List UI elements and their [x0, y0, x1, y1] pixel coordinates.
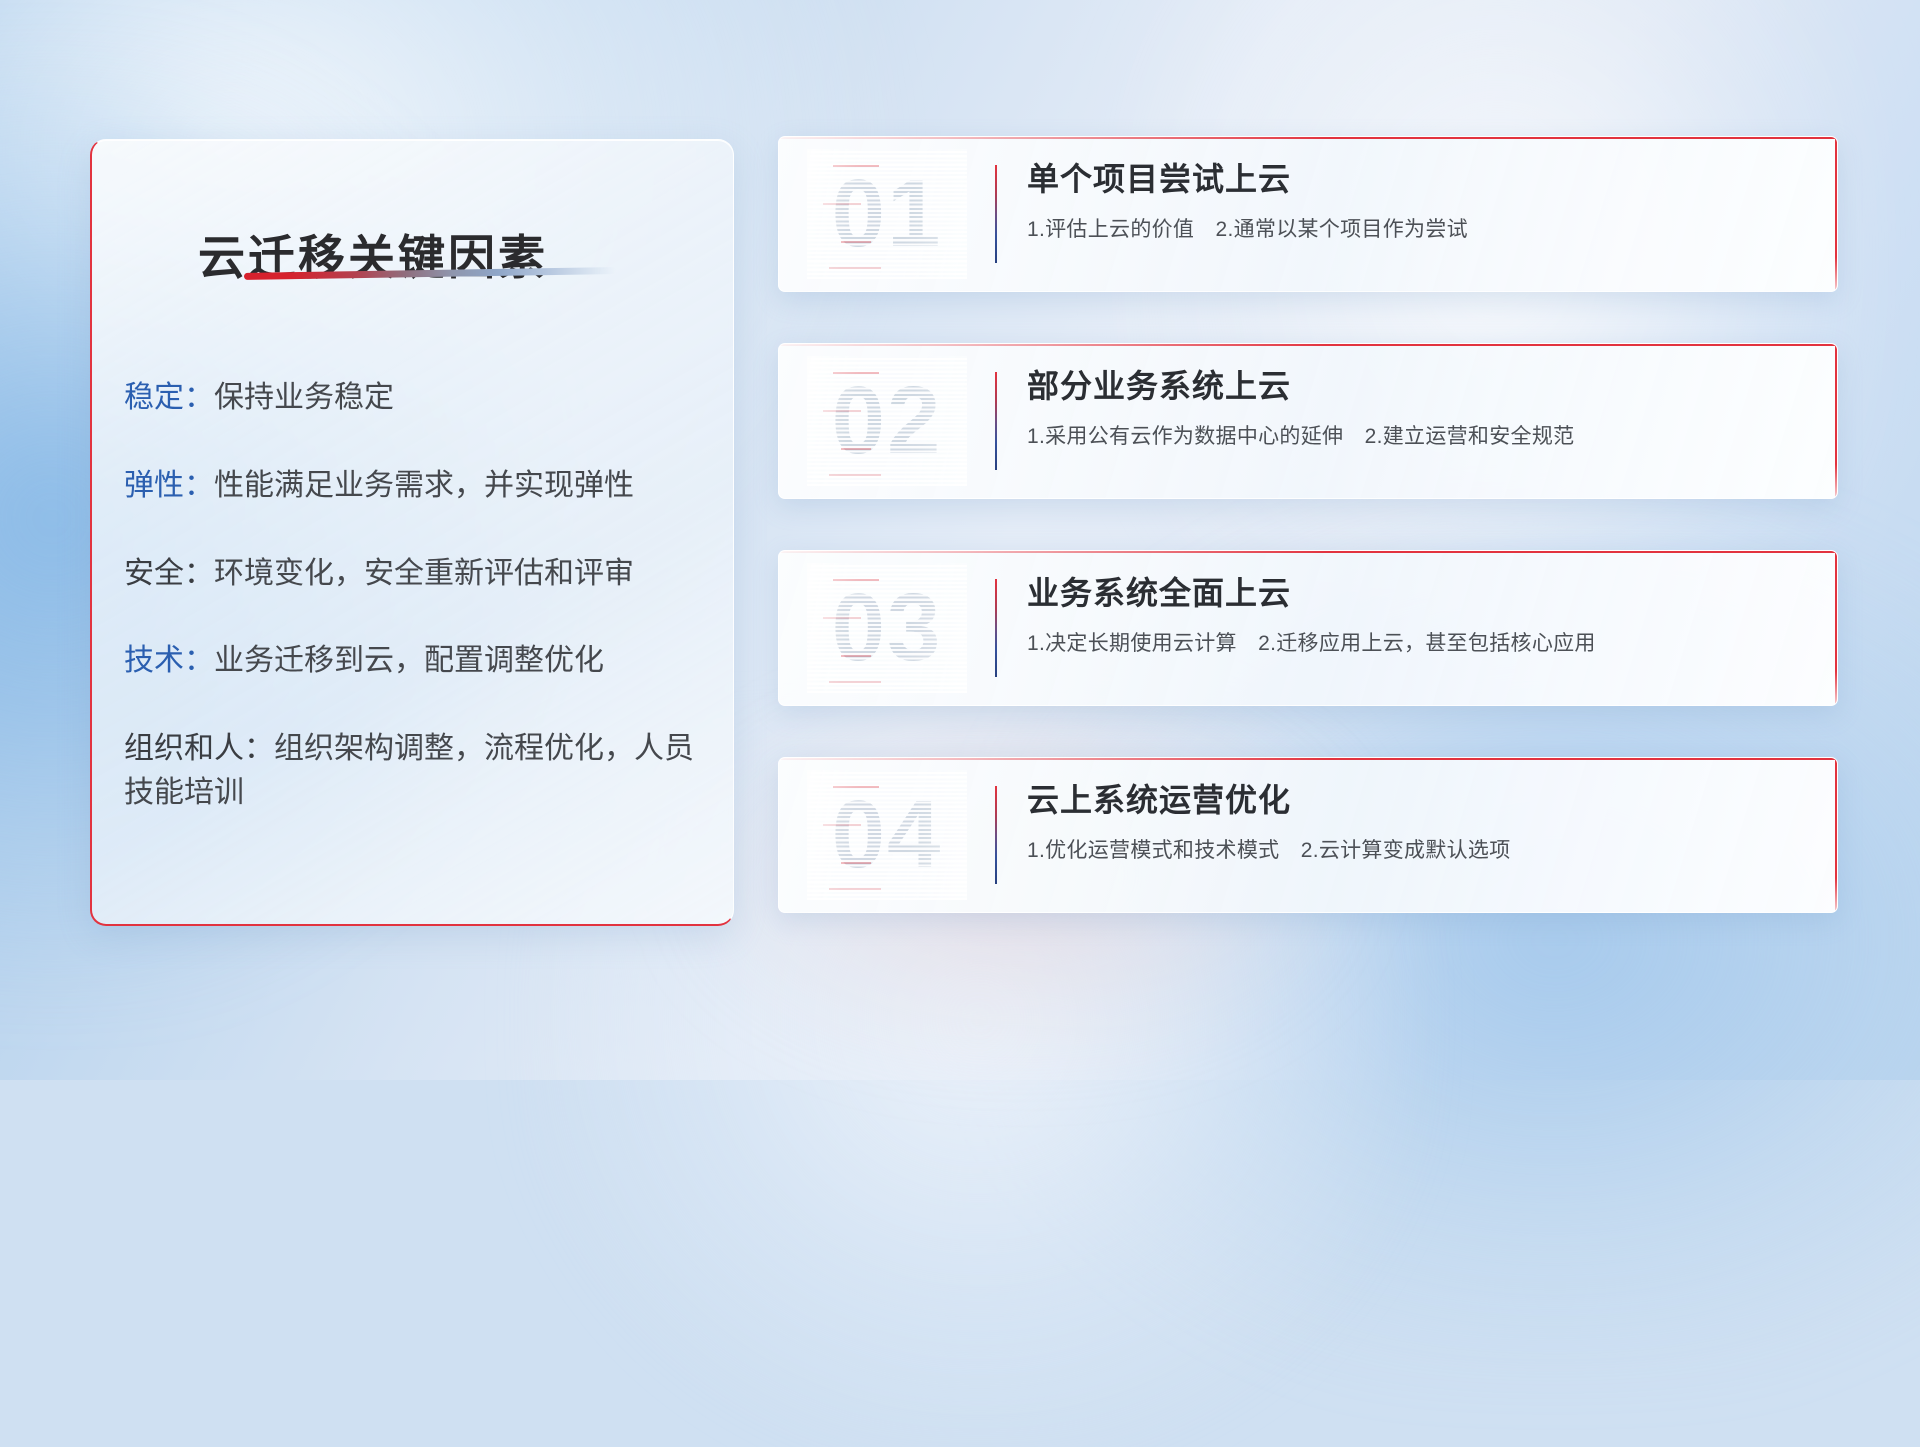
factor-list: 稳定：保持业务稳定弹性：性能满足业务需求，并实现弹性安全：环境变化，安全重新评估…	[124, 376, 709, 859]
factor-label: 安全：	[124, 557, 214, 590]
stage-card-title: 业务系统全面上云	[1027, 575, 1797, 613]
stage-card[interactable]: 04云上系统运营优化1.优化运营模式和技术模式 2.云计算变成默认选项	[778, 757, 1838, 913]
stage-card-title: 部分业务系统上云	[1027, 368, 1797, 406]
slide-stage: 云迁移关键因素 稳定：保持业务稳定弹性：性能满足业务需求，并实现弹性安全：环境变…	[0, 0, 1920, 1080]
stage-card-list: 01单个项目尝试上云1.评估上云的价值 2.通常以某个项目作为尝试02部分业务系…	[778, 136, 1838, 964]
factor-text: 环境变化，安全重新评估和评审	[214, 557, 634, 590]
stage-card-description: 1.评估上云的价值 2.通常以某个项目作为尝试	[1027, 213, 1797, 243]
stage-card[interactable]: 02部分业务系统上云1.采用公有云作为数据中心的延伸 2.建立运营和安全规范	[778, 343, 1838, 499]
stage-card[interactable]: 03业务系统全面上云1.决定长期使用云计算 2.迁移应用上云，甚至包括核心应用	[778, 550, 1838, 706]
stage-number-fade	[807, 149, 967, 279]
stage-card-body: 业务系统全面上云1.决定长期使用云计算 2.迁移应用上云，甚至包括核心应用	[1027, 575, 1797, 657]
key-factors-panel: 云迁移关键因素 稳定：保持业务稳定弹性：性能满足业务需求，并实现弹性安全：环境变…	[90, 139, 734, 926]
stage-card-description: 1.优化运营模式和技术模式 2.云计算变成默认选项	[1027, 834, 1797, 864]
stage-card-body: 部分业务系统上云1.采用公有云作为数据中心的延伸 2.建立运营和安全规范	[1027, 368, 1797, 450]
factor-text: 保持业务稳定	[214, 381, 394, 414]
factor-row: 弹性：性能满足业务需求，并实现弹性	[124, 464, 709, 508]
stage-number-glyph: 04	[807, 770, 967, 900]
stage-number-fade	[807, 356, 967, 486]
factor-row: 技术：业务迁移到云，配置调整优化	[124, 639, 709, 683]
factor-label: 技术：	[124, 644, 214, 677]
factor-label: 稳定：	[124, 381, 214, 414]
factor-text: 业务迁移到云，配置调整优化	[214, 644, 604, 677]
stage-number-glyph: 01	[807, 149, 967, 279]
factor-text: 性能满足业务需求，并实现弹性	[214, 469, 634, 502]
stage-number-glyph: 02	[807, 356, 967, 486]
stage-number-fade	[807, 563, 967, 693]
stage-divider-line	[995, 579, 997, 677]
stage-divider-line	[995, 786, 997, 884]
stage-card-body: 单个项目尝试上云1.评估上云的价值 2.通常以某个项目作为尝试	[1027, 161, 1797, 243]
stage-card[interactable]: 01单个项目尝试上云1.评估上云的价值 2.通常以某个项目作为尝试	[778, 136, 1838, 292]
factor-row: 安全：环境变化，安全重新评估和评审	[124, 552, 709, 596]
stage-card-description: 1.采用公有云作为数据中心的延伸 2.建立运营和安全规范	[1027, 420, 1797, 450]
factor-row: 稳定：保持业务稳定	[124, 376, 709, 420]
stage-divider-line	[995, 372, 997, 470]
stage-divider-line	[995, 165, 997, 263]
stage-number-fade	[807, 770, 967, 900]
factor-row: 组织和人：组织架构调整，流程优化，人员技能培训	[124, 727, 709, 815]
stage-card-title: 云上系统运营优化	[1027, 782, 1797, 820]
factor-label: 弹性：	[124, 469, 214, 502]
stage-card-body: 云上系统运营优化1.优化运营模式和技术模式 2.云计算变成默认选项	[1027, 782, 1797, 864]
factor-label: 组织和人：	[124, 732, 274, 765]
stage-number-glyph: 03	[807, 563, 967, 693]
stage-card-title: 单个项目尝试上云	[1027, 161, 1797, 199]
stage-card-description: 1.决定长期使用云计算 2.迁移应用上云，甚至包括核心应用	[1027, 627, 1797, 657]
